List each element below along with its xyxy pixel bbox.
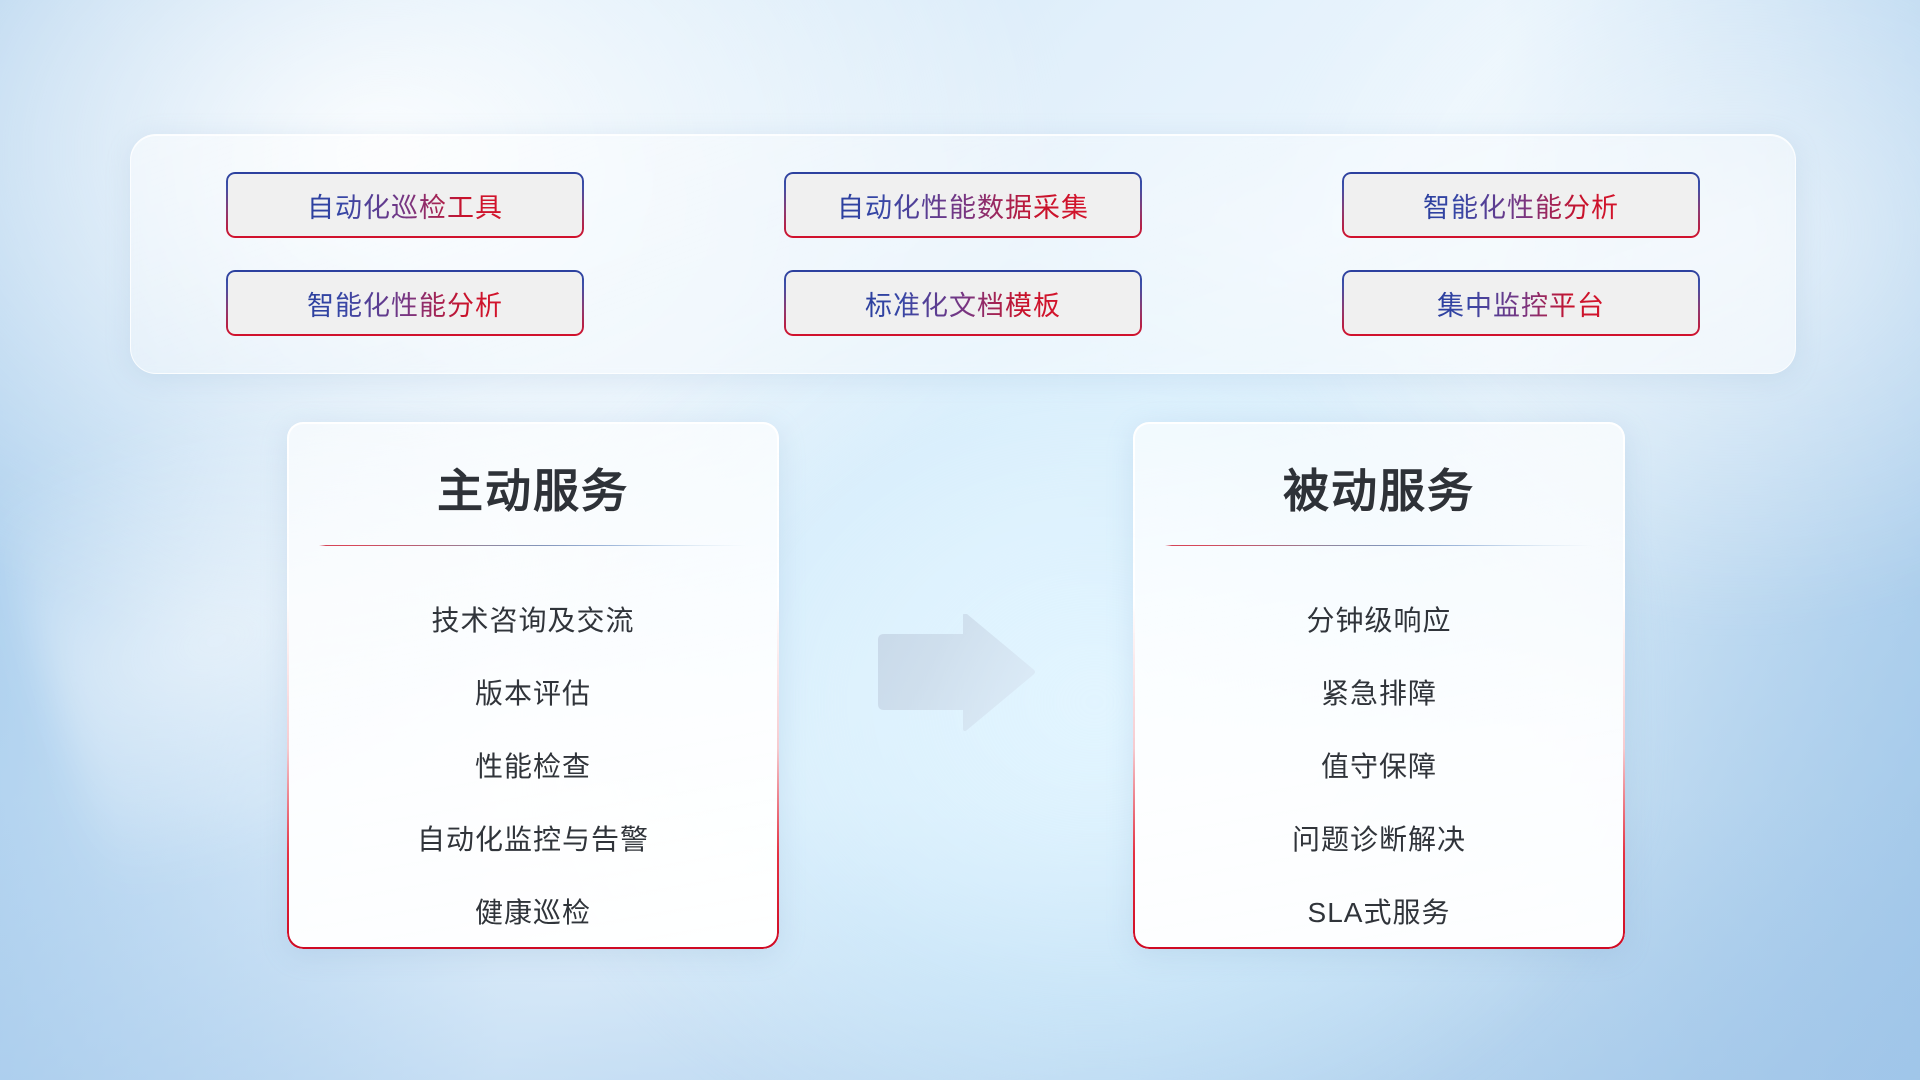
tag-intelligent-performance-analysis-1[interactable]: 智能化性能分析 xyxy=(1342,172,1700,238)
list-item: 技术咨询及交流 xyxy=(431,584,634,657)
tag-auto-performance-data-collection[interactable]: 自动化性能数据采集 xyxy=(784,172,1142,238)
right-arrow-icon xyxy=(872,614,1038,732)
tag-row-2: 智能化性能分析 标准化文档模板 集中监控平台 xyxy=(226,270,1700,336)
title-underline-gradient xyxy=(1165,545,1593,546)
tag-centralized-monitoring-platform[interactable]: 集中监控平台 xyxy=(1342,270,1700,336)
tag-standard-doc-template[interactable]: 标准化文档模板 xyxy=(784,270,1142,336)
list-item: 值守保障 xyxy=(1321,730,1437,803)
list-item: 版本评估 xyxy=(475,657,591,730)
tag-row-1: 自动化巡检工具 自动化性能数据采集 智能化性能分析 xyxy=(226,172,1700,238)
list-item: 自动化监控与告警 xyxy=(417,803,649,876)
tag-label: 集中监控平台 xyxy=(1437,284,1605,323)
list-item: SLA式服务 xyxy=(1308,876,1451,949)
list-item: 健康巡检 xyxy=(475,876,591,949)
list-item: 问题诊断解决 xyxy=(1292,803,1466,876)
card-title-active: 主动服务 xyxy=(437,455,629,521)
tag-auto-inspection-tool[interactable]: 自动化巡检工具 xyxy=(226,172,584,238)
tag-label: 自动化巡检工具 xyxy=(307,186,503,225)
list-item: 性能检查 xyxy=(475,730,591,803)
list-item: 紧急排障 xyxy=(1321,657,1437,730)
title-underline-gradient xyxy=(319,545,747,546)
capability-tags-panel: 自动化巡检工具 自动化性能数据采集 智能化性能分析 智能化性能分析 标准化文档模… xyxy=(130,134,1796,374)
service-card-passive: 被动服务 分钟级响应 紧急排障 值守保障 问题诊断解决 SLA式服务 xyxy=(1133,422,1625,949)
tag-intelligent-performance-analysis-2[interactable]: 智能化性能分析 xyxy=(226,270,584,336)
service-list-active: 技术咨询及交流 版本评估 性能检查 自动化监控与告警 健康巡检 xyxy=(287,584,779,949)
list-item: 分钟级响应 xyxy=(1306,584,1451,657)
tag-label: 标准化文档模板 xyxy=(865,284,1061,323)
service-card-active: 主动服务 技术咨询及交流 版本评估 性能检查 自动化监控与告警 健康巡检 xyxy=(287,422,779,949)
card-title-passive: 被动服务 xyxy=(1283,455,1475,521)
tag-label: 智能化性能分析 xyxy=(1423,186,1619,225)
service-list-passive: 分钟级响应 紧急排障 值守保障 问题诊断解决 SLA式服务 xyxy=(1133,584,1625,949)
tag-label: 自动化性能数据采集 xyxy=(837,186,1089,225)
tag-label: 智能化性能分析 xyxy=(307,284,503,323)
